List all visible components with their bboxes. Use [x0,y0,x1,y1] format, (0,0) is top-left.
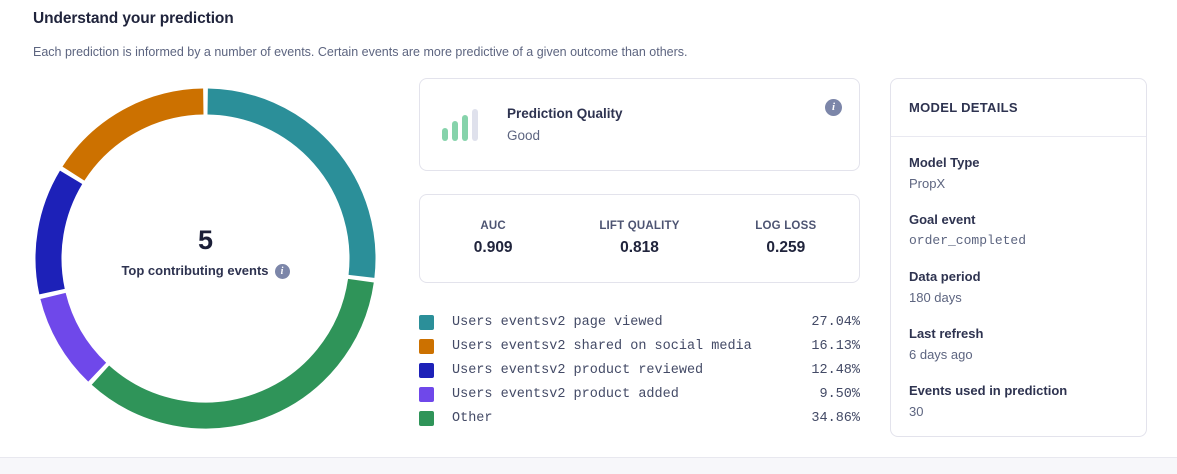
page-header: Understand your prediction Each predicti… [33,8,1133,61]
page-subtitle: Each prediction is informed by a number … [33,30,1133,61]
model-detail-label: Events used in prediction [909,381,1128,401]
legend-percent: 27.04% [782,315,860,330]
model-details-header: MODEL DETAILS [891,79,1146,137]
model-detail-item: Last refresh6 days ago [909,324,1128,365]
metric-auc: AUC 0.909 [420,218,566,259]
model-detail-value: 6 days ago [909,344,1128,365]
legend-color-swatch [419,363,434,378]
model-detail-item: Goal eventorder_completed [909,210,1128,251]
model-detail-label: Last refresh [909,324,1128,344]
middle-column: Prediction Quality Good i AUC 0.909 LIFT… [419,78,860,430]
donut-chart-svg [33,86,378,431]
model-detail-item: Model TypePropX [909,153,1128,194]
legend-percent: 9.50% [782,387,860,402]
metrics-card: AUC 0.909 LIFT QUALITY 0.818 LOG LOSS 0.… [419,194,860,283]
model-detail-value: PropX [909,173,1128,194]
donut-slice[interactable] [208,102,363,277]
legend-label: Users eventsv2 product added [452,387,782,402]
model-detail-value: order_completed [909,230,1128,251]
legend-label: Users eventsv2 product reviewed [452,363,782,378]
legend-label: Users eventsv2 shared on social media [452,339,782,354]
model-details-body: Model TypePropXGoal eventorder_completed… [891,137,1146,422]
legend-percent: 16.13% [782,339,860,354]
prediction-quality-card: Prediction Quality Good i [419,78,860,171]
prediction-quality-title: Prediction Quality [507,104,623,124]
donut-chart-section: 5 Top contributing events i [33,78,405,438]
legend-row[interactable]: Users eventsv2 product added9.50% [419,382,860,406]
legend-color-swatch [419,411,434,426]
metric-label: LOG LOSS [713,218,859,234]
info-icon[interactable]: i [825,99,842,116]
legend-row[interactable]: Users eventsv2 product reviewed12.48% [419,358,860,382]
legend-color-swatch [419,339,434,354]
metric-value: 0.909 [420,234,566,259]
legend-label: Users eventsv2 page viewed [452,315,782,330]
model-detail-value: 180 days [909,287,1128,308]
metric-label: LIFT QUALITY [566,218,712,234]
legend-row[interactable]: Users eventsv2 shared on social media16.… [419,334,860,358]
legend-color-swatch [419,387,434,402]
donut-slice[interactable] [100,281,361,416]
metric-log-loss: LOG LOSS 0.259 [713,218,859,259]
main-content: 5 Top contributing events i Prediction Q… [0,78,1177,457]
model-detail-item: Data period180 days [909,267,1128,308]
footer-strip [0,458,1177,474]
metric-value: 0.259 [713,234,859,259]
model-detail-label: Data period [909,267,1128,287]
model-details-title: MODEL DETAILS [909,100,1018,115]
prediction-quality-text: Prediction Quality Good [507,104,623,146]
model-detail-label: Model Type [909,153,1128,173]
legend-row[interactable]: Other34.86% [419,406,860,430]
metric-label: AUC [420,218,566,234]
legend-color-swatch [419,315,434,330]
model-detail-value: 30 [909,401,1128,422]
model-detail-label: Goal event [909,210,1128,230]
metric-value: 0.818 [566,234,712,259]
donut-chart: 5 Top contributing events i [33,86,378,431]
legend-percent: 34.86% [782,411,860,426]
model-details-card: MODEL DETAILS Model TypePropXGoal evento… [890,78,1147,437]
legend-row[interactable]: Users eventsv2 page viewed27.04% [419,310,860,334]
donut-slice[interactable] [48,177,71,291]
prediction-quality-value: Good [507,124,623,146]
page-title: Understand your prediction [33,8,1133,30]
metric-lift-quality: LIFT QUALITY 0.818 [566,218,712,259]
donut-slice[interactable] [53,296,97,372]
donut-slice[interactable] [73,102,203,174]
chart-legend: Users eventsv2 page viewed27.04%Users ev… [419,310,860,430]
legend-percent: 12.48% [782,363,860,378]
signal-bars-icon [442,109,480,141]
model-detail-item: Events used in prediction30 [909,381,1128,422]
legend-label: Other [452,411,782,426]
